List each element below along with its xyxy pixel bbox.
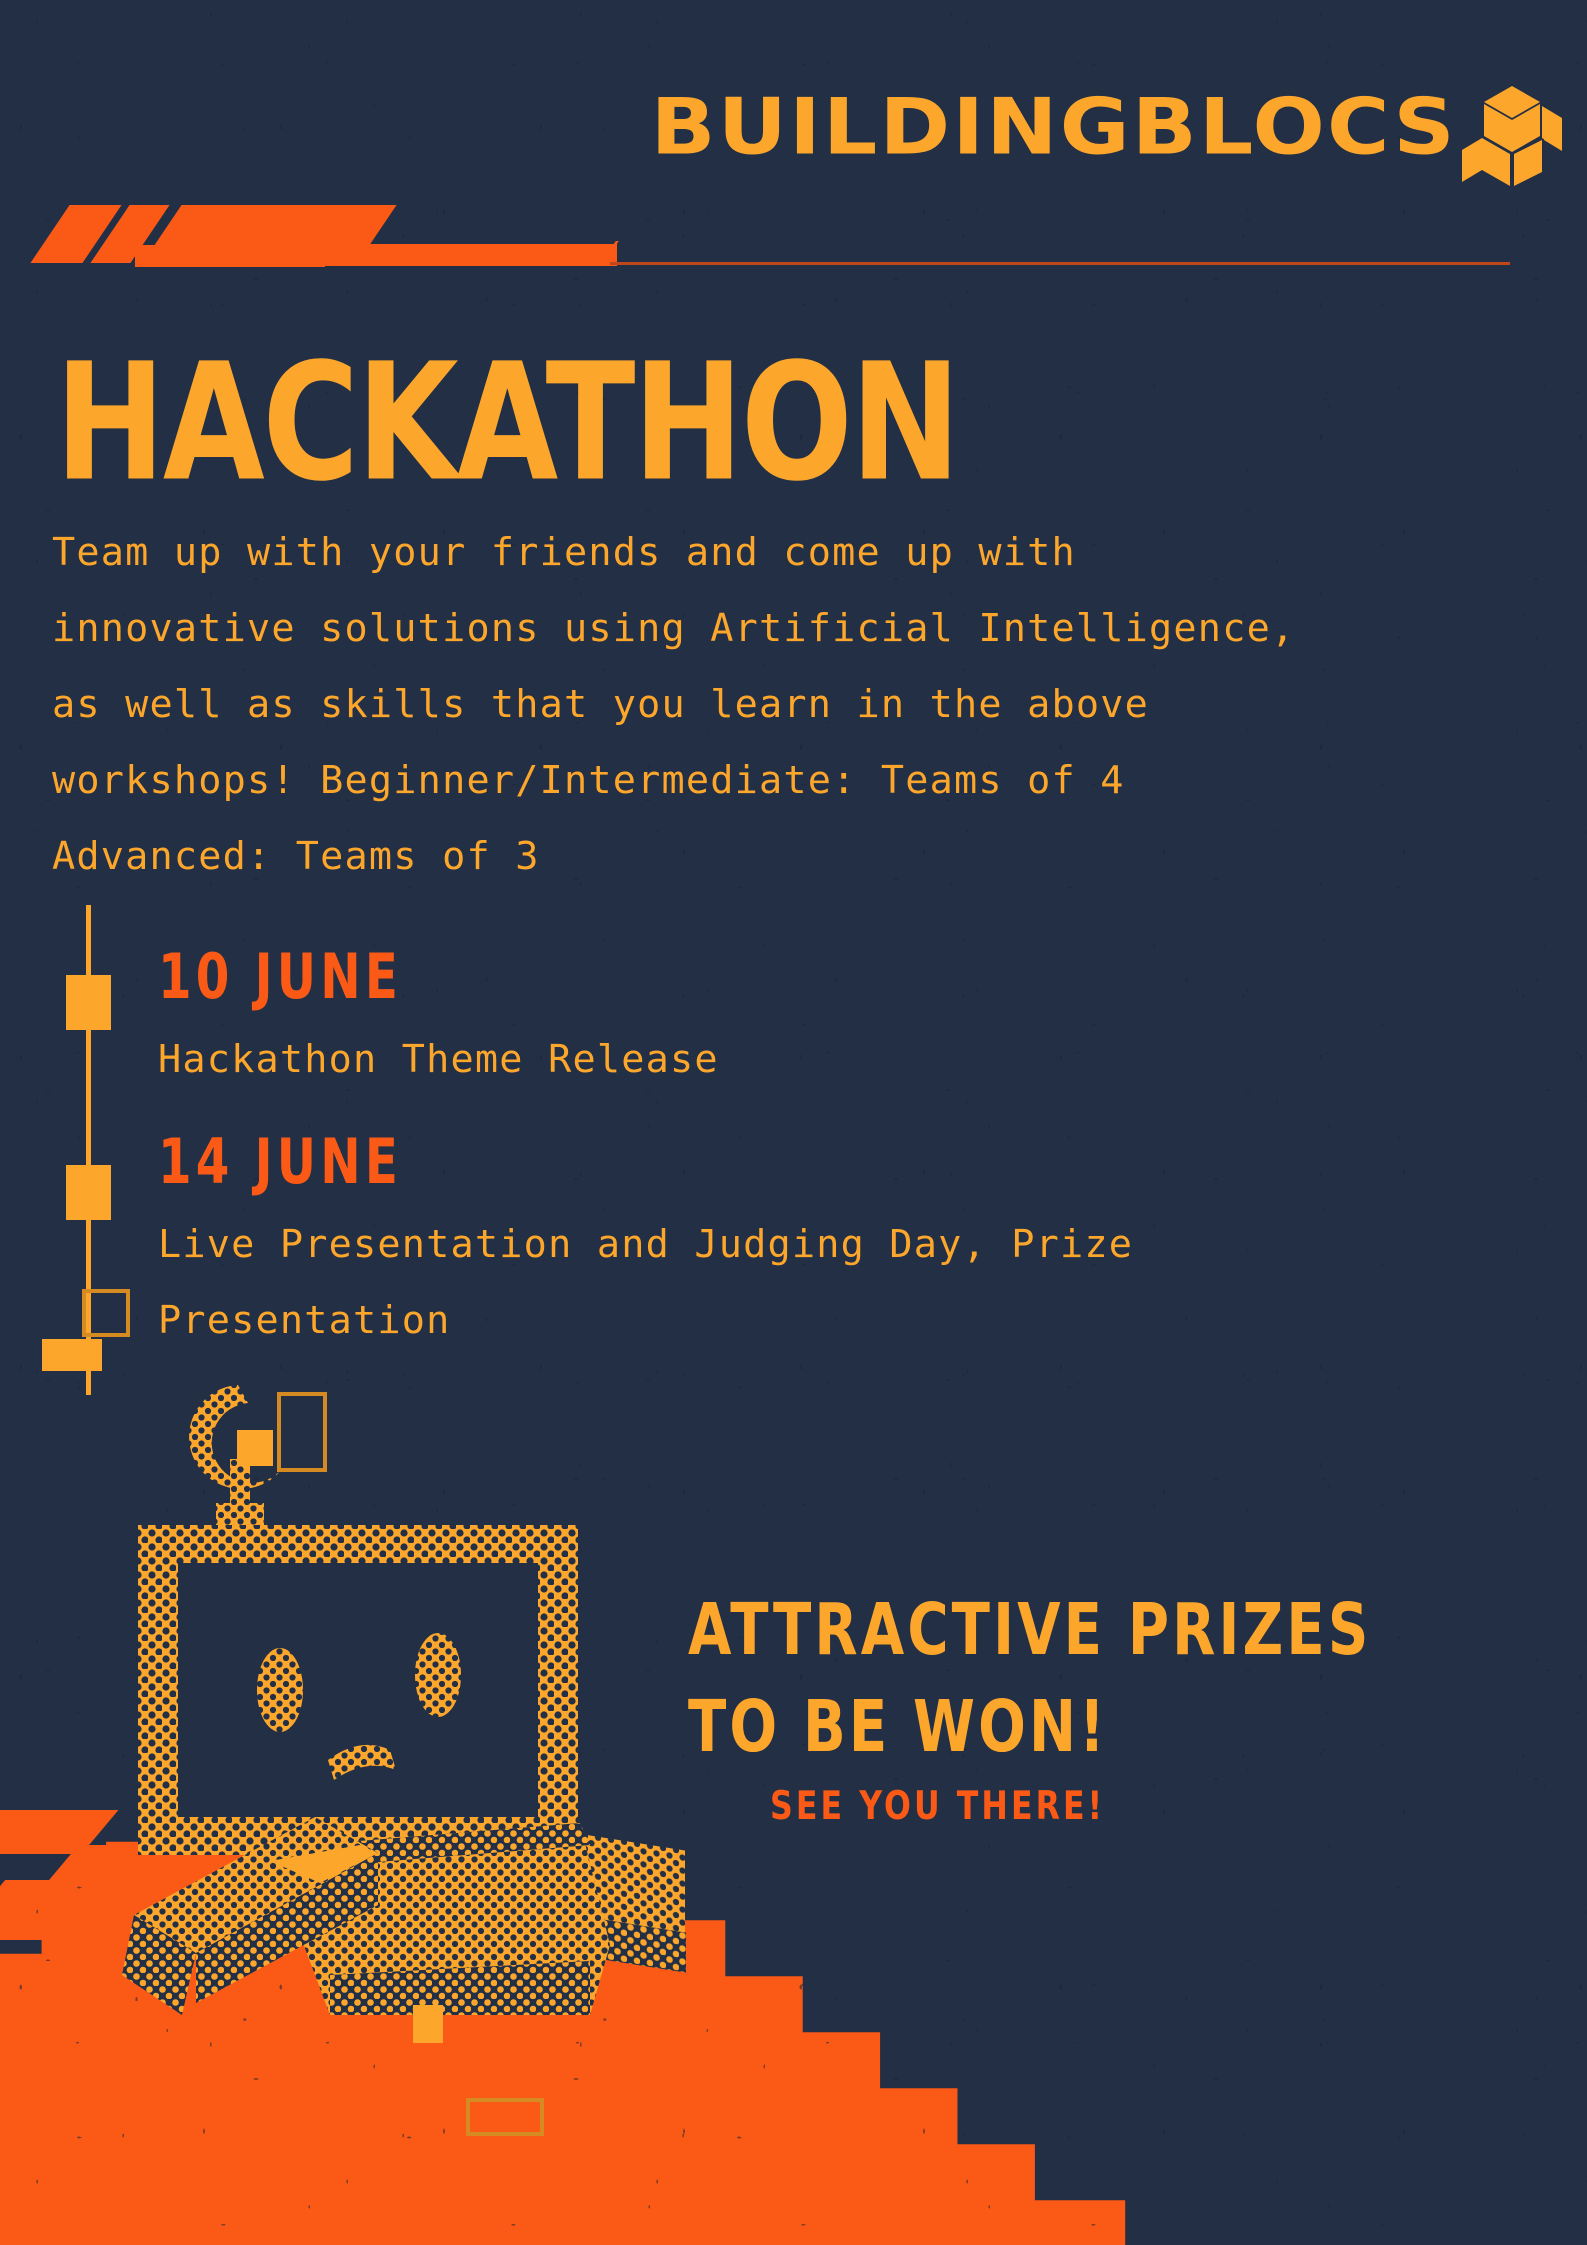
decorative-solid-square xyxy=(413,2005,443,2043)
timeline-marker xyxy=(66,975,111,1030)
body-line: as well as skills that you learn in the … xyxy=(52,667,1472,743)
prizes-subline: SEE YOU THERE! xyxy=(770,1784,1357,1829)
timeline-description-line: Hackathon Theme Release xyxy=(158,1022,1388,1098)
decorative-outline-square xyxy=(82,1289,130,1337)
timeline-description-line: Live Presentation and Judging Day, Prize xyxy=(158,1207,1388,1283)
decorative-outline-square xyxy=(277,1392,327,1472)
isometric-blocks-logo-icon xyxy=(1462,78,1562,188)
body-line: Team up with your friends and come up wi… xyxy=(52,515,1472,591)
timeline-date: 14 JUNE xyxy=(158,1125,1450,1198)
page-title: HACKATHON xyxy=(55,330,958,518)
header-hairline-rule xyxy=(610,262,1510,265)
prizes-line-2: TO BE WON! xyxy=(688,1685,1371,1768)
decorative-outline-square xyxy=(466,2098,544,2136)
header-stripe-5 xyxy=(135,245,325,267)
timeline-description-line: Presentation xyxy=(158,1283,1388,1359)
timeline-item: 14 JUNE Live Presentation and Judging Da… xyxy=(158,1125,1388,1359)
timeline-date: 10 JUNE xyxy=(158,940,1450,1013)
decorative-solid-square xyxy=(42,1339,102,1371)
body-line: workshops! Beginner/Intermediate: Teams … xyxy=(52,743,1472,819)
prizes-block: ATTRACTIVE PRIZES TO BE WON! SEE YOU THE… xyxy=(688,1588,1345,1820)
prizes-line-1: ATTRACTIVE PRIZES xyxy=(688,1588,1371,1671)
robot-eye-left xyxy=(257,1648,303,1732)
body-line: innovative solutions using Artificial In… xyxy=(52,591,1472,667)
brand-wordmark: BUILDINGBLOCS xyxy=(651,81,1457,172)
timeline-description: Live Presentation and Judging Day, Prize… xyxy=(158,1207,1388,1359)
body-line: Advanced: Teams of 3 xyxy=(52,819,1472,895)
body-copy: Team up with your friends and come up wi… xyxy=(52,515,1472,895)
poster-canvas: BUILDINGBLOCS HACKATHON Team up with you… xyxy=(0,0,1587,2245)
header-stripe-4 xyxy=(322,244,617,266)
timeline-description: Hackathon Theme Release xyxy=(158,1022,1388,1098)
timeline-item: 10 JUNE Hackathon Theme Release xyxy=(158,940,1388,1098)
robot-eye-right xyxy=(415,1633,461,1717)
robot-head xyxy=(138,1525,578,1855)
timeline-marker xyxy=(66,1165,111,1220)
decorative-solid-square xyxy=(237,1430,273,1466)
